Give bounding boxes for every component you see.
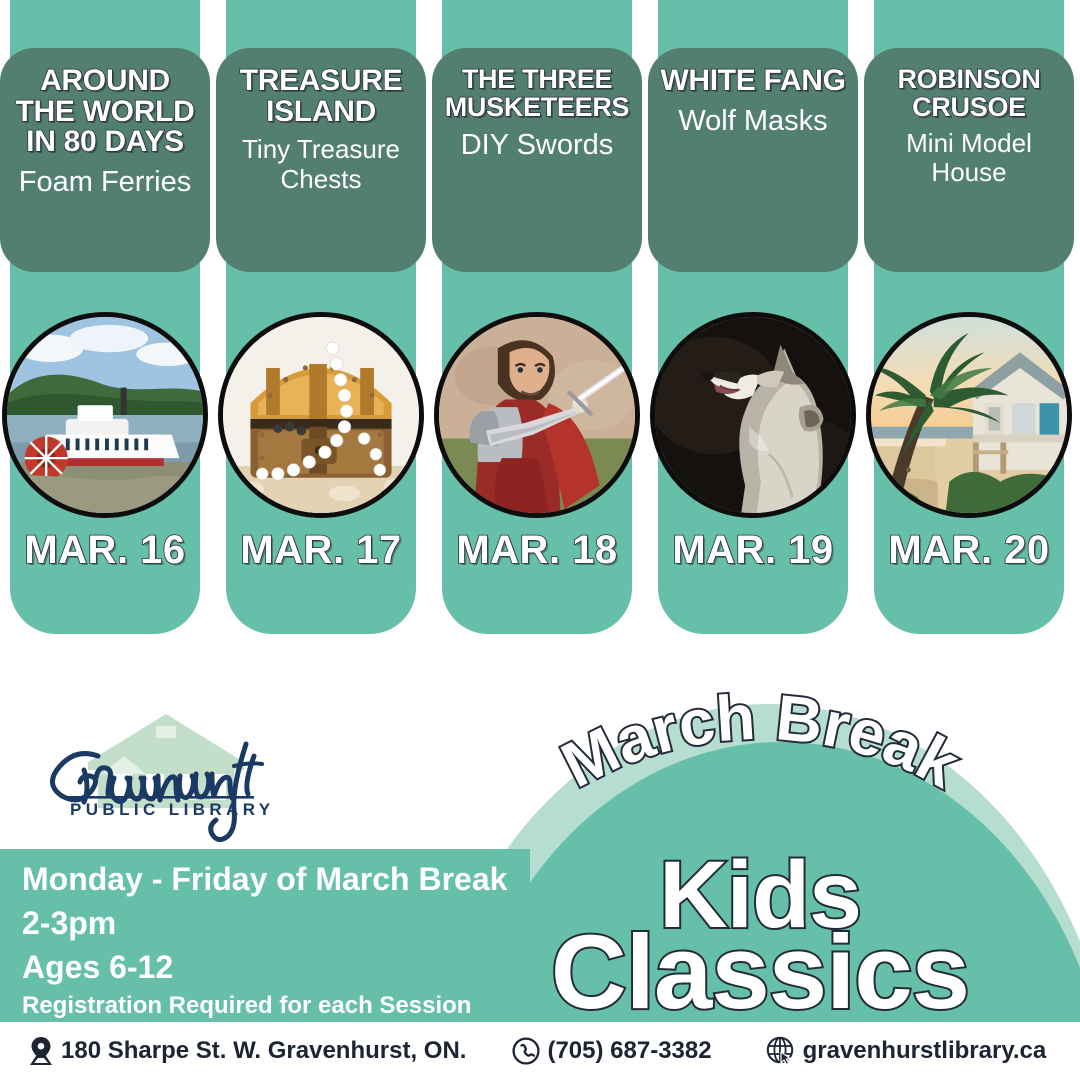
howling-wolf-photo bbox=[650, 312, 856, 518]
poster-canvas: AROUND THE WORLD IN 80 DAYS Foam Ferries… bbox=[0, 0, 1080, 1080]
hero-line-classics: Classics bbox=[440, 920, 1080, 1025]
program-date: MAR. 20 bbox=[864, 528, 1074, 573]
info-ages: Ages 6-12 bbox=[22, 949, 530, 987]
book-title: WHITE FANG bbox=[660, 66, 845, 97]
map-pin-icon bbox=[28, 1036, 54, 1066]
footer-bar: 180 Sharpe St. W. Gravenhurst, ON. (705)… bbox=[0, 1022, 1080, 1080]
program-date: MAR. 17 bbox=[216, 528, 426, 573]
program-card-5: ROBINSON CRUSOE Mini Model House bbox=[864, 48, 1074, 272]
info-band: Monday - Friday of March Break 2-3pm Age… bbox=[0, 849, 530, 1022]
footer-phone-text: (705) 687-3382 bbox=[547, 1037, 711, 1065]
book-title: ROBINSON CRUSOE bbox=[874, 66, 1064, 121]
globe-icon bbox=[766, 1036, 796, 1066]
svg-text:March Break: March Break bbox=[550, 681, 970, 802]
footer-website: gravenhurstlibrary.ca bbox=[766, 1036, 1047, 1066]
riverboat-paddle-steamer-photo bbox=[2, 312, 208, 518]
library-logo: PUBLIC LIBRARY bbox=[18, 700, 318, 850]
hero-arc-textpath: March Break bbox=[550, 681, 970, 802]
program-date: MAR. 18 bbox=[432, 528, 642, 573]
program-date: MAR. 19 bbox=[648, 528, 858, 573]
info-days: Monday - Friday of March Break bbox=[22, 861, 530, 899]
activity-label: Tiny Treasure Chests bbox=[226, 135, 416, 194]
info-time: 2-3pm bbox=[22, 905, 530, 943]
activity-label: Mini Model House bbox=[874, 129, 1064, 188]
footer-address: 180 Sharpe St. W. Gravenhurst, ON. bbox=[28, 1036, 466, 1066]
program-card-1: AROUND THE WORLD IN 80 DAYS Foam Ferries bbox=[0, 48, 210, 272]
phone-icon bbox=[512, 1037, 540, 1065]
program-card-4: WHITE FANG Wolf Masks bbox=[648, 48, 858, 272]
program-card-3: THE THREE MUSKETEERS DIY Swords bbox=[432, 48, 642, 272]
treasure-chest-with-pearls-photo bbox=[218, 312, 424, 518]
book-title: AROUND THE WORLD IN 80 DAYS bbox=[10, 66, 200, 158]
beach-hut-with-palm-tree-photo bbox=[866, 312, 1072, 518]
activity-label: Foam Ferries bbox=[19, 166, 191, 199]
book-title: THE THREE MUSKETEERS bbox=[442, 66, 632, 121]
book-title: TREASURE ISLAND bbox=[226, 66, 416, 127]
musketeer-with-sword-photo bbox=[434, 312, 640, 518]
activity-label: Wolf Masks bbox=[678, 105, 827, 138]
logo-subtitle: PUBLIC LIBRARY bbox=[70, 800, 275, 819]
info-registration-note: Registration Required for each Session bbox=[22, 992, 530, 1020]
footer-phone: (705) 687-3382 bbox=[512, 1037, 711, 1065]
activity-label: DIY Swords bbox=[461, 129, 614, 162]
program-columns: AROUND THE WORLD IN 80 DAYS Foam Ferries… bbox=[0, 0, 1080, 640]
footer-website-text: gravenhurstlibrary.ca bbox=[803, 1037, 1047, 1065]
footer-address-text: 180 Sharpe St. W. Gravenhurst, ON. bbox=[61, 1037, 466, 1065]
program-card-2: TREASURE ISLAND Tiny Treasure Chests bbox=[216, 48, 426, 272]
program-date: MAR. 16 bbox=[0, 528, 210, 573]
